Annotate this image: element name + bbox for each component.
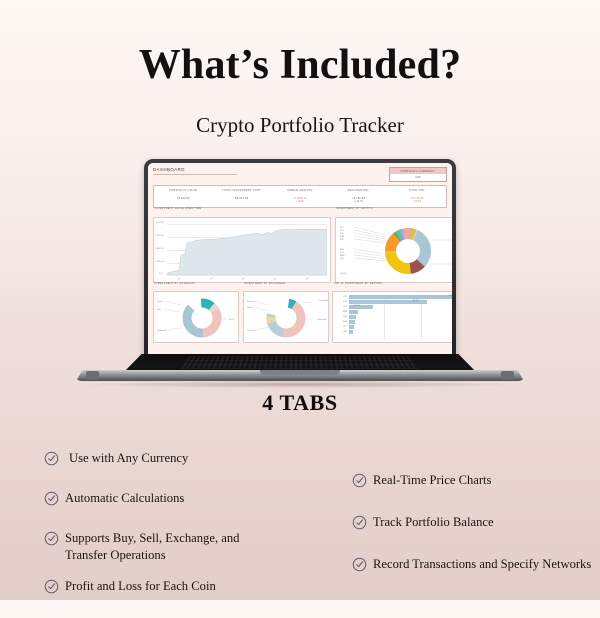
svg-text:BTC: BTC [340,227,344,229]
chart-investment-by-exchange: Binance Kraken Coinbase Trust Wallet Met… [243,291,329,343]
kpi-sub: + 26.8% [388,201,446,203]
kpi-label: UNREALIZED PNL [271,189,329,192]
bar-row: DOT [335,325,452,329]
bar-row: ETH +98.20% [335,300,452,304]
feature-item: Use with Any Currency [44,450,314,471]
check-circle-icon [352,473,367,493]
feature-label: Supports Buy, Sell, Exchange, and Transf… [65,530,255,563]
base-foot-left [86,371,99,380]
donut-crypto: BTCETH SOLBNB XRPADA DOTAVAX LINKOTHER 3… [336,218,453,282]
svg-text:OTHER: OTHER [340,273,347,275]
currency-selector[interactable]: PORTFOLIO CURRENCY USD [389,167,447,182]
base-notch [260,370,341,375]
svg-text:LINK: LINK [340,258,345,260]
by-category-wrap: INVESTMENT BY CATEGORY [153,286,239,343]
kpi-label: TOTAL PNL [388,189,446,192]
svg-text:XRP: XRP [340,239,344,241]
laptop-screen: DASHBOARD PORTFOLIO CURRENCY USD PORTFOL… [148,163,452,356]
dashboard-app: DASHBOARD PORTFOLIO CURRENCY USD PORTFOL… [148,163,452,356]
bar-row: BTC +182.40% [335,295,452,299]
y-tick: 80000.00 [156,222,164,224]
bar-value: +182.40% [448,295,452,297]
y-tick: 0.00 [159,273,163,275]
features-section: Use with Any Currency Automatic Calculat… [0,440,600,600]
chart-top-investment-by-return: BTC +182.40% ETH +98.20% [332,291,452,343]
svg-text:DeFi: DeFi [157,309,161,311]
chart-investment-by-crypto: BTCETH SOLBNB XRPADA DOTAVAX LINKOTHER 3… [335,217,453,283]
feature-item: Real-Time Price Charts [352,472,598,493]
bar-row: SOL +32.10% [335,305,452,309]
chart-investment-by-category: Layer 1 DeFi Stablecoin 44.2% [153,291,239,343]
features-right-column: Real-Time Price Charts Track Portfolio B… [352,472,598,596]
x-tick: Feb [210,277,214,280]
x-tick: Mar [242,277,246,280]
svg-text:Kraken: Kraken [247,307,253,309]
svg-text:ETH: ETH [340,230,344,232]
card-title: TOP 10 INVESTMENT BY RETURN [334,282,382,285]
bar-row: XRP [335,315,452,319]
kpi-label: PORTFOLIO VALUE [154,189,212,192]
kpi-realized-pnl: REALIZED PNL +1,711.59 ▲ 28.1% [329,189,387,203]
bar-row: ADA [335,320,452,324]
laptop-lid: DASHBOARD PORTFOLIO CURRENCY USD PORTFOL… [144,159,456,366]
check-circle-icon [352,557,367,577]
kpi-unrealized-pnl: UNREALIZED PNL 17,060.43 + 29.6% [271,189,329,203]
y-tick: 60000.00 [156,235,164,237]
kpi-value: 74,221.51 [154,196,212,200]
value-over-time-wrap: INVESTMENT VALUE OVER TIME 80000.00 6000… [153,212,331,283]
kpi-summary-card: PORTFOLIO VALUE 74,221.51 TOTAL INVESTME… [153,185,447,208]
feature-item: Supports Buy, Sell, Exchange, and Transf… [44,530,314,563]
laptop-mockup: DASHBOARD PORTFOLIO CURRENCY USD PORTFOL… [70,148,530,388]
svg-text:Binance: Binance [247,301,254,303]
keyboard-keys [181,356,419,369]
laptop-base [76,370,524,381]
bar-category: BNB [335,311,349,313]
card-title: INVESTMENT BY CATEGORY [155,282,196,285]
check-circle-icon [44,579,59,599]
bar-category: SOL [335,306,349,308]
bar-value: +98.20% [412,300,419,302]
kpi-value: 15,249.81 [388,196,446,200]
y-tick: 40000.00 [156,248,164,250]
donut-category: Layer 1 DeFi Stablecoin 44.2% [154,292,238,342]
features-left-column: Use with Any Currency Automatic Calculat… [44,450,314,618]
by-crypto-wrap: INVESTMENT BY CRYPTO [335,212,453,283]
dashboard-row-1: INVESTMENT VALUE OVER TIME 80000.00 6000… [153,212,447,283]
feature-item: Automatic Calculations [44,490,314,511]
feature-label: Profit and Loss for Each Coin [65,578,216,595]
kpi-label: REALIZED PNL [329,189,387,192]
svg-text:Metamask: Metamask [317,318,325,321]
x-tick: May [306,277,310,281]
kpi-sub: + 29.6% [271,201,329,203]
kpi-label: TOTAL INVESTMENT COST [212,189,270,192]
svg-text:Coinbase: Coinbase [247,330,255,332]
tabs-count-label: 4 TABS [0,390,600,416]
dashboard-row-2: INVESTMENT BY CATEGORY [153,286,447,343]
bar-category: ADA [335,321,349,323]
bar-category: BTC [335,296,349,298]
svg-text:DOT: DOT [340,252,345,254]
feature-label: Use with Any Currency [69,450,188,467]
page-subtitle: Crypto Portfolio Tracker [0,113,600,138]
svg-text:BNB: BNB [340,236,344,238]
page-title: What’s Included? [0,42,600,88]
bar-row: LINK [335,330,452,334]
check-circle-icon [352,515,367,535]
feature-item: Track Portfolio Balance [352,514,598,535]
bar-category: LINK [335,331,349,333]
card-title: INVESTMENT VALUE OVER TIME [155,207,202,210]
svg-text:Trust Wallet: Trust Wallet [318,299,327,302]
area-series [167,221,327,275]
dashboard-header: DASHBOARD PORTFOLIO CURRENCY USD [153,167,447,182]
feature-label: Automatic Calculations [65,490,184,507]
chart-investment-value-over-time: 80000.00 60000.00 40000.00 20000.00 0.00 [153,217,331,283]
check-circle-icon [44,491,59,511]
kpi-sub: ▲ 28.1% [329,201,387,203]
feature-item: Profit and Loss for Each Coin [44,578,314,599]
top-returns-wrap: TOP 10 INVESTMENT BY RETURN BTC [332,286,452,343]
feature-label: Real-Time Price Charts [373,472,491,489]
currency-selector-value[interactable]: USD [390,174,446,181]
feature-label: Track Portfolio Balance [373,514,494,531]
donut-exchange: Binance Kraken Coinbase Trust Wallet Met… [244,292,328,342]
kpi-total-investment-cost: TOTAL INVESTMENT COST 58,471.44 [212,189,270,203]
kpi-value: +1,711.59 [329,196,387,200]
kpi-total-pnl: TOTAL PNL 15,249.81 + 26.8% [388,189,446,203]
svg-text:Layer 1: Layer 1 [157,301,163,303]
card-title: INVESTMENT BY CRYPTO [336,207,373,210]
dashboard-title: DASHBOARD [153,167,237,175]
feature-label: Record Transactions and Specify Networks [373,556,591,573]
bar-row: BNB [335,310,452,314]
check-circle-icon [44,451,59,471]
kpi-value: 17,060.43 [271,196,329,200]
y-tick: 20000.00 [156,261,164,263]
check-circle-icon [44,531,59,551]
bar-category: ETH [335,301,349,303]
bar-category: DOT [335,326,349,328]
svg-text:44.2%: 44.2% [229,319,234,321]
promo-page: What’s Included? Crypto Portfolio Tracke… [0,0,600,600]
svg-text:AVAX: AVAX [340,254,345,257]
kpi-portfolio-value: PORTFOLIO VALUE 74,221.51 [154,189,212,203]
svg-text:SOL: SOL [340,233,344,235]
svg-text:Stablecoin: Stablecoin [157,329,165,332]
card-title: INVESTMENT BY EXCHANGE [244,282,285,285]
base-foot-right [501,371,514,380]
x-tick: Jan [178,277,182,280]
laptop-shadow [84,381,516,388]
feature-item: Record Transactions and Specify Networks [352,556,598,577]
bar-value: +32.10% [353,305,360,307]
svg-text:ADA: ADA [340,248,344,251]
kpi-value: 58,471.44 [212,196,270,200]
x-tick: Apr [274,277,277,280]
by-exchange-wrap: INVESTMENT BY EXCHANGE [243,286,329,343]
bar-category: XRP [335,316,349,318]
